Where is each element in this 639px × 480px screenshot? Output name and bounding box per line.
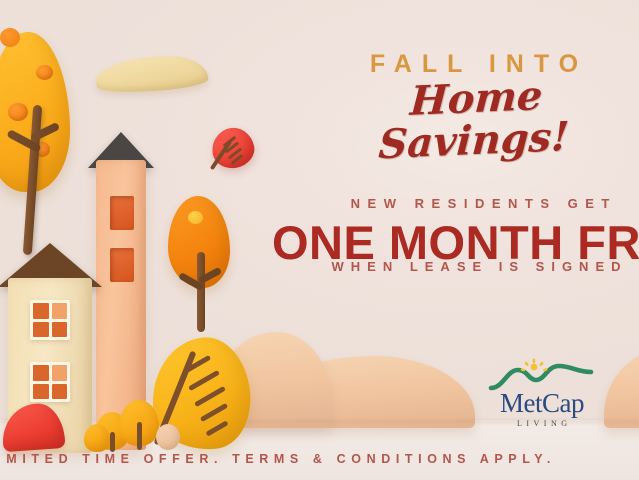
cloud-shape	[95, 54, 209, 94]
building-window	[110, 196, 134, 230]
bush	[84, 424, 110, 452]
window-pane	[52, 365, 68, 381]
yellow-tree-berry	[8, 103, 28, 121]
yellow-tree-berry	[36, 65, 53, 80]
bush-stem	[110, 432, 115, 452]
metcap-tagline: LIVING	[487, 419, 597, 428]
building-window	[110, 248, 134, 282]
window-pane	[52, 384, 68, 400]
window-pane	[52, 303, 68, 319]
bush-stem	[137, 422, 142, 450]
house-window-upper	[30, 300, 70, 340]
orange-tree-berry	[188, 211, 203, 224]
window-pane	[33, 303, 49, 319]
window-pane	[33, 384, 49, 400]
orange-tree-trunk	[197, 252, 205, 332]
mound-right	[604, 348, 639, 428]
window-pane	[52, 322, 68, 338]
orange-berry	[0, 28, 20, 47]
metcap-wordmark: MetCap	[487, 390, 597, 417]
window-pane	[33, 322, 49, 338]
offer-posttext: WHEN LEASE IS SIGNED	[311, 260, 639, 273]
house-window-lower	[30, 362, 70, 402]
metcap-logo: MetCap LIVING	[487, 358, 597, 436]
disclaimer-text: LIMITED TIME OFFER. TERMS & CONDITIONS A…	[0, 452, 556, 466]
pebble	[156, 424, 180, 450]
window-pane	[33, 365, 49, 381]
offer-pretext: NEW RESIDENTS GET	[330, 197, 630, 210]
headline-script: Home Savings!	[323, 71, 628, 168]
fall-promotion-banner: FALL INTO Home Savings! NEW RESIDENTS GE…	[0, 0, 639, 480]
metcap-swoosh-icon	[487, 358, 597, 392]
